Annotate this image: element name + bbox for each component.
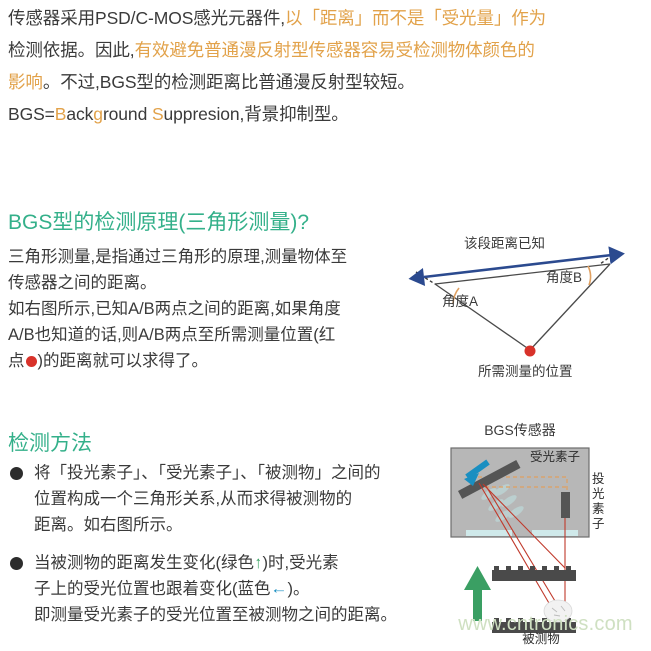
label-target-position: 所需测量的位置 [478, 360, 573, 380]
known-distance-arrow [424, 255, 612, 277]
bgs-letter-b: B [55, 104, 67, 124]
bgs-sensor-diagram: BGS传感器 [440, 420, 651, 651]
method-bullet-list: 将「投光素子」、「受光素子」、「被测物」之间的 位置构成一个三角形关系,从而求得… [8, 460, 428, 640]
intro-paragraph: 传感器采用PSD/C-MOS感光元器件,以「距离」而不是「受光量」作为 检测依据… [8, 2, 648, 130]
measurement-point-dot [525, 346, 536, 357]
intro-line-3-orange: 影响 [8, 72, 43, 92]
bullet-1-line-2: 位置构成一个三角形关系,从而求得被测物的 [34, 486, 428, 512]
bullet-2-line-2-a: 子上的受光位置也跟着变化(蓝色 [34, 580, 271, 598]
intro-line-3: 影响。不过,BGS型的检测距离比普通漫反射型较短。 [8, 66, 648, 98]
triangle-top-edge [435, 264, 610, 284]
principle-line-5-before: 点 [8, 352, 25, 370]
label-angle-b: 角度B [546, 266, 582, 286]
bullet-1-line-3: 距离。如右图所示。 [34, 512, 428, 538]
bullet-2-line-2: 子上的受光位置也跟着变化(蓝色←)。 [34, 576, 428, 602]
principle-line-5: 点)的距离就可以求得了。 [8, 348, 400, 374]
principle-line-1: 三角形测量,是指通过三角形的原理,测量物体至 [8, 244, 400, 270]
label-angle-a: 角度A [442, 290, 478, 310]
principle-line-3: 如右图所示,已知A/B两点之间的距离,如果角度 [8, 296, 400, 322]
intro-line-1-dark: 传感器采用PSD/C-MOS感光元器件, [8, 8, 285, 28]
near-target-object [492, 566, 576, 581]
bgs-ack: ack [66, 104, 93, 124]
emitter-element-bar [561, 492, 570, 518]
principle-body-text: 三角形测量,是指通过三角形的原理,测量物体至 传感器之间的距离。 如右图所示,已… [8, 244, 400, 374]
bullet-2-line-2-b: )。 [288, 580, 310, 598]
bgs-uppresion: uppresion [164, 104, 240, 124]
label-emitter-element: 投光素子 [592, 472, 606, 532]
heading-detection-method: 检测方法 [8, 427, 92, 457]
label-known-distance: 该段距离已知 [464, 232, 545, 252]
principle-line-2: 传感器之间的距离。 [8, 270, 400, 296]
principle-line-4: A/B也知道的话,则A/B两点至所需测量位置(红 [8, 322, 400, 348]
dashed-extension-right [600, 252, 617, 264]
bgs-letter-s: S [152, 104, 164, 124]
intro-line-1: 传感器采用PSD/C-MOS感光元器件,以「距离」而不是「受光量」作为 [8, 2, 648, 34]
triangulation-diagram: 该段距离已知 角度A 角度B 所需测量的位置 [404, 228, 644, 383]
bullet-dot-icon [10, 557, 23, 570]
principle-line-5-after: )的距离就可以求得了。 [38, 352, 209, 370]
lens-window-left [466, 530, 512, 536]
red-dot-icon [26, 356, 37, 367]
bullet-2-line-1-b: )时,受光素 [263, 554, 339, 572]
bullet-dot-icon [10, 467, 23, 480]
bullet-2-line-1: 当被测物的距离发生变化(绿色↑)时,受光素 [34, 550, 428, 576]
bullet-1-line-1: 将「投光素子」、「受光素子」、「被测物」之间的 [34, 460, 428, 486]
intro-line-2-orange: 有效避免普通漫反射型传感器容易受检测物体颜色的 [135, 40, 535, 60]
intro-line-2: 检测依据。因此,有效避免普通漫反射型传感器容易受检测物体颜色的 [8, 34, 648, 66]
bullet-2-line-3: 即测量受光素子的受光位置至被测物之间的距离。 [34, 602, 428, 628]
arrow-up-icon: ↑ [255, 550, 262, 576]
bullet-2-line-1-a: 当被测物的距离发生变化(绿色 [34, 554, 254, 572]
angle-b-arc [588, 266, 590, 285]
bgs-round: round [103, 104, 147, 124]
intro-line-4-bgs-expansion: BGS=Background Suppresion,背景抑制型。 [8, 98, 648, 130]
intro-line-1-orange: 以「距离」而不是「受光量」作为 [285, 8, 546, 28]
bullet-item-1: 将「投光素子」、「受光素子」、「被测物」之间的 位置构成一个三角形关系,从而求得… [8, 460, 428, 538]
heading-detection-principle: BGS型的检测原理(三角形测量)? [8, 206, 309, 236]
intro-line-2-dark: 检测依据。因此, [8, 40, 135, 60]
label-receiver-element: 受光素子 [530, 450, 580, 464]
bgs-letter-g: g [93, 104, 103, 124]
lens-window-right [532, 530, 578, 536]
watermark-text: www.cntronics.com [438, 613, 651, 636]
bullet-item-2: 当被测物的距离发生变化(绿色↑)时,受光素 子上的受光位置也跟着变化(蓝色←)。… [8, 550, 428, 628]
arrow-left-icon: ← [271, 577, 288, 600]
bgs-prefix: BGS= [8, 104, 55, 124]
intro-line-3-dark: 。不过,BGS型的检测距离比普通漫反射型较短。 [43, 72, 415, 92]
bgs-suffix: ,背景抑制型。 [240, 104, 349, 124]
